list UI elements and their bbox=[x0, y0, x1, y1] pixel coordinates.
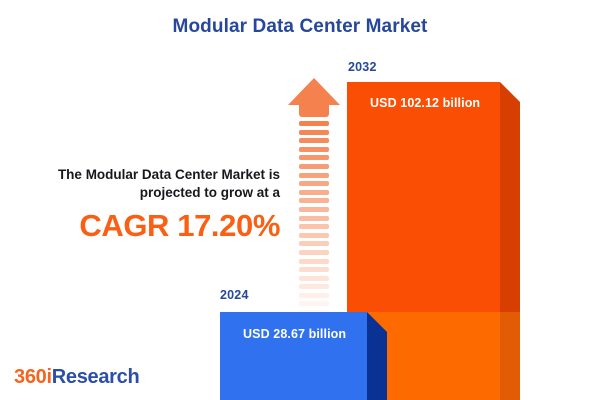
arrow-segment bbox=[299, 130, 329, 135]
brand-logo[interactable]: 360iResearch bbox=[14, 366, 139, 389]
arrow-segment bbox=[299, 233, 329, 238]
logo-text-blue: Research bbox=[52, 366, 140, 388]
arrow-segment bbox=[299, 293, 329, 298]
year-label-2024: 2024 bbox=[220, 288, 249, 302]
arrow-segment bbox=[299, 250, 329, 255]
arrow-segment bbox=[299, 138, 329, 143]
arrow-segment bbox=[299, 164, 329, 169]
growth-arrow-icon bbox=[288, 78, 340, 293]
arrow-segment bbox=[299, 284, 329, 289]
arrow-segment bbox=[299, 276, 329, 281]
bar-2032-side-face-lower bbox=[500, 312, 520, 400]
arrow-segment bbox=[299, 301, 329, 306]
bar-2032-value-label: USD 102.12 billion bbox=[370, 96, 480, 110]
arrow-segment bbox=[299, 198, 329, 203]
arrow-segment bbox=[299, 267, 329, 272]
page-title: Modular Data Center Market bbox=[0, 16, 600, 38]
arrow-segment bbox=[299, 241, 329, 246]
bar-2024-side-face bbox=[367, 312, 387, 400]
arrow-segment bbox=[299, 155, 329, 160]
bar-2024-front-face bbox=[220, 312, 367, 400]
arrow-segments bbox=[299, 121, 329, 327]
year-label-2032: 2032 bbox=[348, 60, 377, 74]
caption-line-2: projected to grow at a bbox=[18, 184, 280, 202]
arrow-segment bbox=[299, 121, 329, 126]
arrow-segment bbox=[299, 190, 329, 195]
arrow-neck bbox=[299, 105, 329, 117]
bar-2024 bbox=[220, 312, 387, 400]
arrow-segment bbox=[299, 207, 329, 212]
arrow-segment bbox=[299, 181, 329, 186]
bar-2024-value-label: USD 28.67 billion bbox=[243, 327, 346, 341]
infographic-canvas: Modular Data Center Market The Modular D… bbox=[0, 0, 600, 400]
arrow-head-icon bbox=[288, 78, 340, 105]
caption-line-1: The Modular Data Center Market is bbox=[18, 166, 280, 184]
cagr-value: CAGR 17.20% bbox=[18, 209, 280, 243]
arrow-segment bbox=[299, 147, 329, 152]
arrow-segment bbox=[299, 224, 329, 229]
arrow-segment bbox=[299, 216, 329, 221]
arrow-segment bbox=[299, 173, 329, 178]
logo-text-orange: 360i bbox=[14, 366, 52, 388]
arrow-segment bbox=[299, 259, 329, 264]
caption-block: The Modular Data Center Market is projec… bbox=[18, 166, 280, 243]
